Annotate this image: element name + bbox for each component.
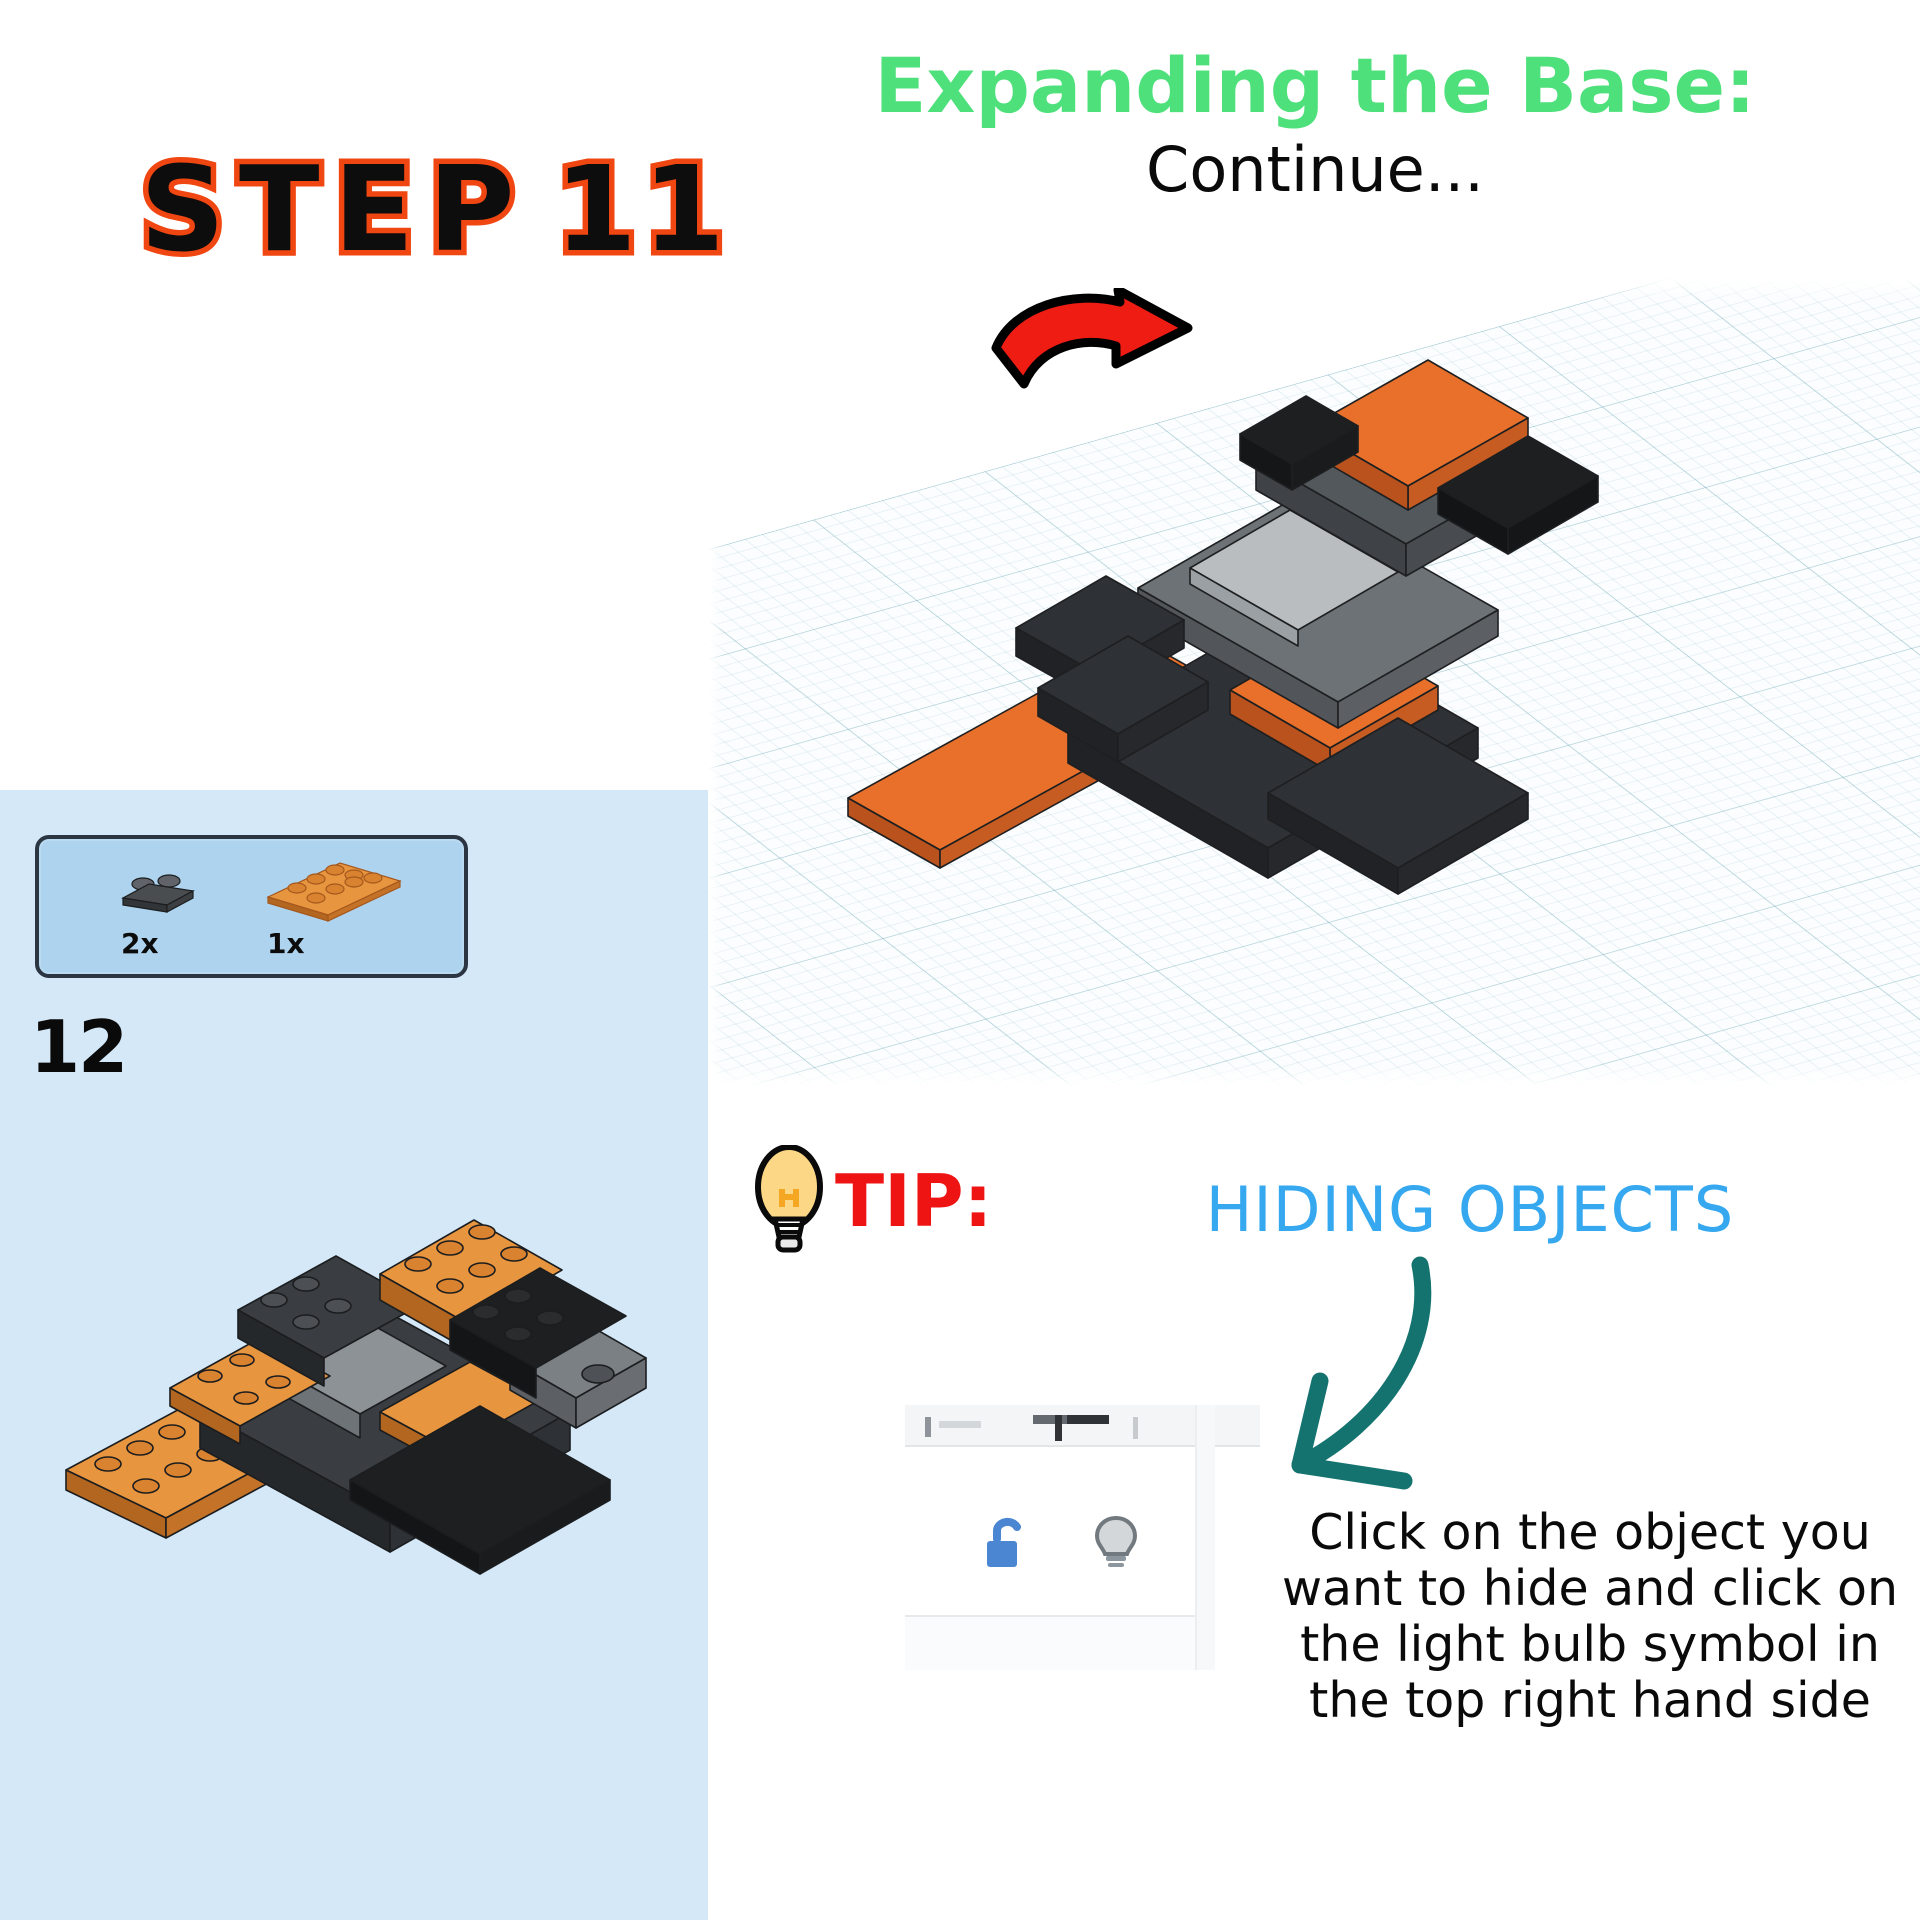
light-bulb-icon xyxy=(745,1145,833,1255)
lego-assembly-illustration xyxy=(50,1160,670,1580)
part-quantity-label: 2x xyxy=(121,927,159,960)
tinkercad-toolbar-inset xyxy=(905,1405,1260,1670)
tinkercad-viewport[interactable] xyxy=(708,278,1920,1086)
headline-block: Expanding the Base: Continue... xyxy=(710,46,1920,204)
lego-model-3d xyxy=(838,338,1658,898)
step-number-title: 11 xyxy=(555,140,731,278)
tip-instructions-text: Click on the object you want to hide and… xyxy=(1270,1505,1910,1728)
tip-header-row: TIP: HIDING OBJECTS xyxy=(735,1145,1920,1255)
plate-1x2-dark-grey-icon xyxy=(117,871,199,917)
step-counter: 12 xyxy=(30,1005,126,1089)
plate-2x4-orange-icon xyxy=(264,857,404,923)
inset-lower-row xyxy=(905,1617,1195,1670)
tip-label: TIP: xyxy=(835,1159,992,1243)
part-quantity-label: 1x xyxy=(267,927,305,960)
page-title: STEP11 xyxy=(140,140,731,278)
instruction-sheet: STEP11 Expanding the Base: Continue... xyxy=(0,0,1920,1920)
unlocked-padlock-icon[interactable] xyxy=(983,1515,1035,1573)
tip-topic-label: HIDING OBJECTS xyxy=(1025,1173,1915,1246)
parts-inventory-box: 2x 1x xyxy=(35,835,468,978)
red-arrow-icon xyxy=(988,288,1218,418)
inset-visibility-panel xyxy=(905,1475,1195,1617)
headline-subtitle: Continue... xyxy=(710,136,1920,204)
headline-title: Expanding the Base: xyxy=(710,46,1920,126)
light-bulb-icon[interactable] xyxy=(1090,1512,1142,1574)
parts-panel: 2x 1x 12 xyxy=(0,790,708,1920)
step-word: STEP xyxy=(140,140,529,278)
inset-right-strip xyxy=(1195,1405,1215,1670)
